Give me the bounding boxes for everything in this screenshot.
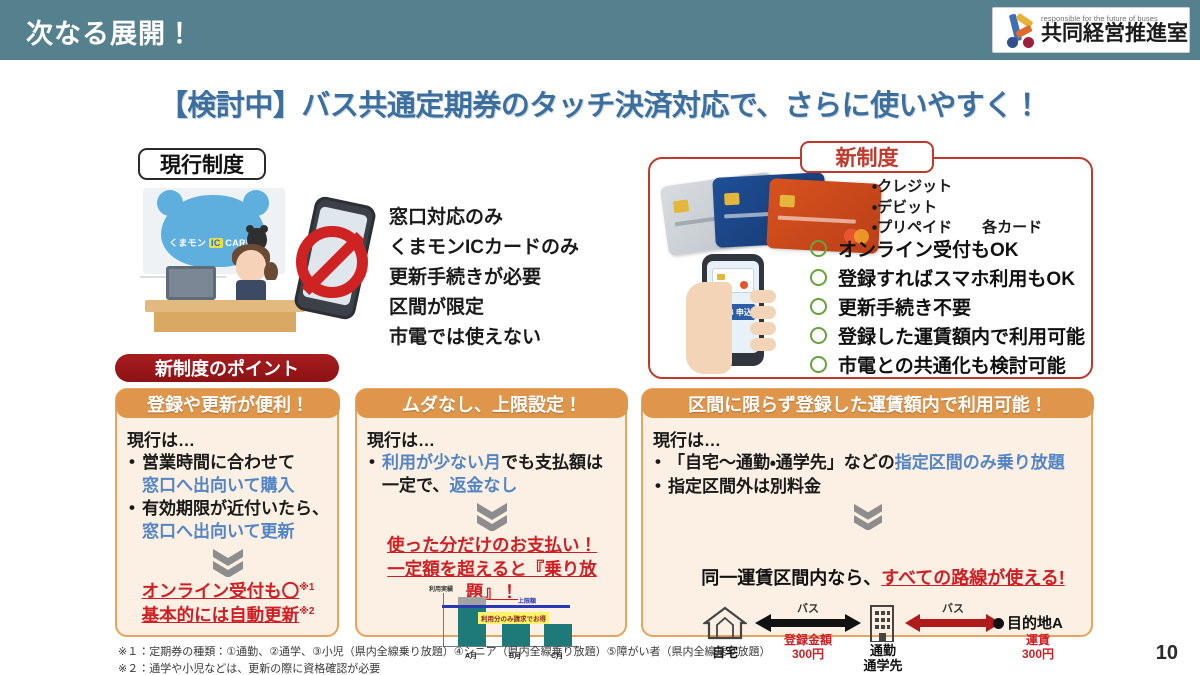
smartphone-in-hand-illustration: WEB 申込 xyxy=(684,254,809,376)
new-item-2: 更新手続き不要 xyxy=(810,293,1085,320)
no-smartphone-icon xyxy=(290,196,386,328)
point-card-1-lead: 現行は… xyxy=(127,426,329,451)
point-card-3: 区間に限らず登録した運賃額内で利用可能！ 現行は… 「自宅～通勤・通学先」などの… xyxy=(641,388,1093,637)
chart-plot-area: 上限額 利用分のみ請求でお得 xyxy=(443,593,579,647)
current-item-0: 窓口対応のみ xyxy=(389,203,579,233)
bullet-highlight: 窓口へ出向いて更新 xyxy=(142,522,295,541)
main-title: 【検討中】バス共通定期券のタッチ決済対応で、さらに使いやすく！ xyxy=(0,82,1200,124)
route-note-plain: 同一運賃区間内なら、 xyxy=(701,568,881,588)
home-icon xyxy=(703,606,747,640)
current-system-list: 窓口対応のみ くまモンICカードのみ 更新手続きが必要 区間が限定 市電では使え… xyxy=(389,203,579,353)
footnote-2: ※２：通学や小児などは、更新の際に資格確認が必要 xyxy=(118,661,771,675)
down-chevron-icon xyxy=(127,547,329,577)
down-chevron-icon xyxy=(653,502,1083,530)
route-segment-1: バス xyxy=(755,614,861,632)
route-destination-label: 目的地A xyxy=(1007,612,1063,633)
card-types-list: ・クレジット ・デビット ・プリペイド 各カード xyxy=(872,177,1042,239)
conclusion-line: 使った分だけのお支払い！ xyxy=(387,535,597,555)
segment-1-mode: バス xyxy=(755,600,861,616)
chart-cap-line xyxy=(442,605,570,608)
bullet-text: 一定で、 xyxy=(382,476,449,495)
footnotes: ※１：定期券の種類：①通勤、②通学、③小児（県内全線乗り放題）④シニア（県内全線… xyxy=(118,644,771,675)
segment-2-mode: バス xyxy=(905,600,1001,616)
conclusion-line: 基本的には自動更新 xyxy=(142,605,300,625)
clerk-avatar xyxy=(236,250,266,283)
new-system-box: ・クレジット ・デビット ・プリペイド 各カード WEB 申込 オンライン受付も… xyxy=(648,157,1093,379)
new-item-label: オンライン受付もOK xyxy=(838,235,1019,262)
points-badge: 新制度のポイント xyxy=(115,354,339,382)
chart-bar-2 xyxy=(544,624,572,646)
point-card-1: 登録や更新が便利！ 現行は… 営業時間に合わせて 窓口へ出向いて購入 有効期限が… xyxy=(115,388,339,637)
list-item: 有効期限が近付いたら、 窓口へ出向いて更新 xyxy=(127,498,329,543)
bullet-text: 有効期限が近付いたら、 xyxy=(142,499,329,518)
footnote-ref: ※2 xyxy=(299,606,314,617)
current-item-4: 市電では使えない xyxy=(389,323,579,353)
point-card-2-lead: 現行は… xyxy=(367,426,617,451)
segment-2-amount-label: 運賃 xyxy=(993,634,1083,648)
new-item-0: オンライン受付もOK xyxy=(810,235,1085,262)
list-item: 利用が少ない月でも支払額は 一定で、返金なし xyxy=(367,452,617,497)
bullet-text: 「自宅～通勤・通学先」などの xyxy=(668,453,895,472)
point-card-1-header: 登録や更新が便利！ xyxy=(116,389,340,418)
bullet-highlight: 窓口へ出向いて購入 xyxy=(142,476,295,495)
route-segment-2: バス xyxy=(905,614,1001,632)
footnote-ref: ※1 xyxy=(299,583,314,594)
route-note: 同一運賃区間内なら、すべての路線が使える! xyxy=(693,564,1073,590)
bullet-highlight: 指定区間のみ乗り放題 xyxy=(895,453,1065,472)
new-item-label: 登録すればスマホ利用もOK xyxy=(838,264,1075,291)
point-card-3-lead: 現行は… xyxy=(653,426,1083,451)
point-card-3-bullets: 「自宅～通勤・通学先」などの指定区間のみ乗り放題 指定区間外は別料金 xyxy=(653,452,1083,498)
organization-logo: responsible for the future of buses 共同経営… xyxy=(992,7,1190,53)
bullet-text: 営業時間に合わせて xyxy=(142,453,295,472)
current-system-label: 現行制度 xyxy=(138,148,266,180)
current-item-3: 区間が限定 xyxy=(389,293,579,323)
slide-header: 次なる展開！ responsible for the future of bus… xyxy=(0,0,1200,60)
down-chevron-icon xyxy=(367,501,617,531)
chart-y-axis-label: 利用実績 xyxy=(429,584,453,593)
point-card-2-bullets: 利用が少ない月でも支払額は 一定で、返金なし xyxy=(367,452,617,497)
page-title: 次なる展開！ xyxy=(26,12,194,51)
circle-check-icon xyxy=(810,269,827,286)
circle-check-icon xyxy=(810,240,827,257)
circle-check-icon xyxy=(810,327,827,344)
list-item: 指定区間外は別料金 xyxy=(653,476,1083,499)
page-number: 10 xyxy=(1156,642,1178,665)
route-middle-label: 通勤通学先 xyxy=(853,644,913,674)
circle-check-icon xyxy=(810,298,827,315)
new-system-label: 新制度 xyxy=(800,141,934,173)
k-mark-icon xyxy=(999,11,1039,49)
route-note-highlight: すべての路線が使える! xyxy=(881,568,1064,588)
point-card-1-bullets: 営業時間に合わせて 窓口へ出向いて購入 有効期限が近付いたら、 窓口へ出向いて更… xyxy=(127,452,329,543)
bullet-text: 指定区間外は別料金 xyxy=(668,477,821,496)
new-item-3: 登録した運賃額内で利用可能 xyxy=(810,322,1085,349)
destination-dot-icon xyxy=(993,618,1004,629)
point-card-2-header: ムダなし、上限設定！ xyxy=(356,389,628,418)
new-system-list: オンライン受付もOK 登録すればスマホ利用もOK 更新手続き不要 登録した運賃額… xyxy=(810,235,1085,380)
current-item-1: くまモンICカードのみ xyxy=(389,233,579,263)
card-type-0: ・クレジット xyxy=(872,177,1042,198)
bullet-text: でも支払額は xyxy=(501,453,603,472)
footnote-1: ※１：定期券の種類：①通勤、②通学、③小児（県内全線乗り放題）④シニア（県内全線… xyxy=(118,644,771,661)
chart-cap-label: 上限額 xyxy=(518,596,536,605)
new-item-4: 市電との共通化も検討可能 xyxy=(810,351,1085,378)
chart-bar-1 xyxy=(502,620,530,646)
segment-2-amount-value: 300円 xyxy=(993,648,1083,662)
card-type-1: ・デビット xyxy=(872,198,1042,219)
chart-annotation: 利用分のみ請求でお得 xyxy=(478,612,549,624)
list-item: 「自宅～通勤・通学先」などの指定区間のみ乗り放題 xyxy=(653,452,1083,475)
point-card-1-conclusion: オンライン受付も〇※1 基本的には自動更新※2 xyxy=(127,580,329,627)
bullet-highlight: 返金なし xyxy=(449,476,517,495)
logo-name: 共同経営推進室 xyxy=(1041,23,1188,45)
circle-check-icon xyxy=(810,356,827,373)
current-item-2: 更新手続きが必要 xyxy=(389,263,579,293)
point-card-3-header: 区間に限らず登録した運賃額内で利用可能！ xyxy=(642,389,1094,418)
new-item-label: 更新手続き不要 xyxy=(838,293,971,320)
new-item-1: 登録すればスマホ利用もOK xyxy=(810,264,1085,291)
new-item-label: 市電との共通化も検討可能 xyxy=(838,351,1066,378)
slide: 次なる展開！ responsible for the future of bus… xyxy=(0,0,1200,675)
point-card-2: ムダなし、上限設定！ 現行は… 利用が少ない月でも支払額は 一定で、返金なし 使… xyxy=(355,388,627,637)
list-item: 営業時間に合わせて 窓口へ出向いて購入 xyxy=(127,452,329,497)
conclusion-line: オンライン受付も〇 xyxy=(142,581,300,601)
office-building-icon xyxy=(869,604,895,642)
segment-2-amount: 運賃 300円 xyxy=(993,634,1083,662)
new-item-label: 登録した運賃額内で利用可能 xyxy=(838,322,1085,349)
bullet-highlight: 利用が少ない月 xyxy=(382,453,501,472)
monitor-icon xyxy=(166,266,216,300)
